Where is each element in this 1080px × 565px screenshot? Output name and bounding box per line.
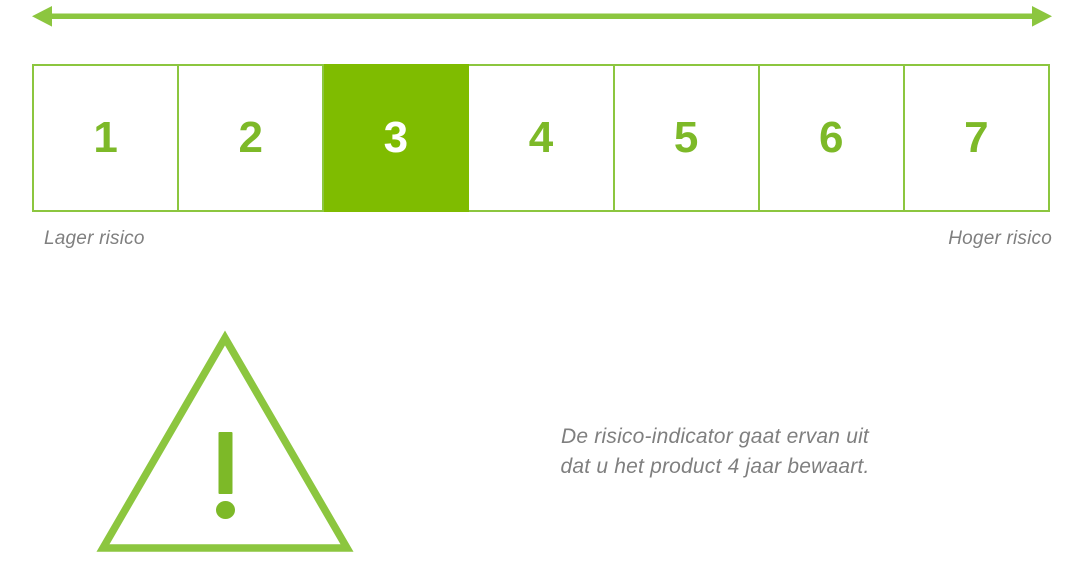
risk-axis-arrow (28, 2, 1056, 32)
risk-cell-7[interactable]: 7 (905, 66, 1050, 210)
scale-high-label: Hoger risico (948, 228, 1052, 250)
exclamation-bar (219, 432, 233, 494)
scale-low-label: Lager risico (44, 228, 145, 250)
risk-scale: 1 2 3 4 5 6 7 (32, 64, 1050, 212)
risk-cell-5[interactable]: 5 (615, 66, 760, 210)
risk-cell-6[interactable]: 6 (760, 66, 905, 210)
exclamation-dot (216, 501, 235, 519)
risk-cell-2[interactable]: 2 (179, 66, 324, 210)
risk-note-line-2: dat u het product 4 jaar bewaart. (480, 452, 950, 482)
risk-cell-1[interactable]: 1 (34, 66, 179, 210)
risk-cell-3-selected[interactable]: 3 (324, 64, 469, 212)
arrow-shaft (48, 14, 1036, 20)
arrow-head-left (32, 6, 52, 27)
risk-indicator-graphic: 1 2 3 4 5 6 7 Lager risico Hoger risico … (0, 0, 1080, 565)
arrow-head-right (1032, 6, 1052, 27)
warning-triangle-icon (96, 328, 356, 558)
risk-note: De risico-indicator gaat ervan uit dat u… (480, 422, 950, 482)
risk-cell-4[interactable]: 4 (469, 66, 614, 210)
risk-note-line-1: De risico-indicator gaat ervan uit (480, 422, 950, 452)
